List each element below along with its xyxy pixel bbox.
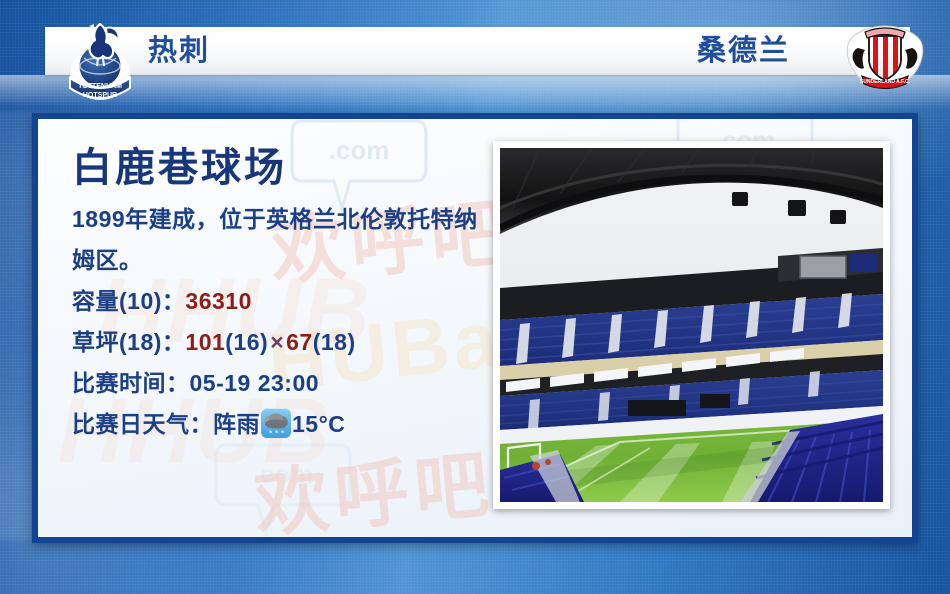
match-time-label: 比赛时间： — [72, 370, 190, 396]
pitch-row: 草坪(18)：101(16)×67(18) — [72, 322, 492, 363]
pitch-width-note: (18) — [313, 329, 356, 355]
capacity-value: 36310 — [185, 288, 251, 314]
capacity-label: 容量(10)： — [72, 288, 185, 314]
stadium-info-block: 白鹿巷球场 1899年建成，位于英格兰北伦敦托特纳姆区。 容量(10)：3631… — [72, 141, 492, 445]
match-time-value: 05-19 23:00 — [190, 370, 320, 396]
away-team-name: 桑德兰 — [697, 30, 790, 72]
pitch-label: 草坪(18)： — [72, 329, 185, 355]
sunderland-afc-crest-icon: SUNDERLAND A.F.C. — [842, 24, 928, 90]
match-time-row: 比赛时间：05-19 23:00 — [72, 363, 492, 404]
svg-text:TOTTENHAM: TOTTENHAM — [78, 83, 122, 90]
weather-temperature: 15°C — [292, 411, 345, 437]
stadium-description: 1899年建成，位于英格兰北伦敦托特纳姆区。 — [72, 199, 492, 281]
pitch-length: 101 — [185, 329, 225, 355]
weather-row: 比赛日天气：阵雨 15°C — [72, 404, 492, 445]
weather-label: 比赛日天气： — [72, 411, 213, 437]
svg-text:SUNDERLAND A.F.C.: SUNDERLAND A.F.C. — [860, 79, 911, 85]
svg-text:.com: .com — [253, 459, 314, 489]
stadium-title: 白鹿巷球场 — [72, 141, 492, 195]
rain-shower-icon — [261, 408, 291, 438]
pitch-length-note: (16) — [225, 329, 268, 355]
stadium-photo-frame — [493, 141, 890, 509]
stadium-info-card: .com .com .com 欢呼吧 HHUB HUBa 欢呼吧 HHUB 白鹿… — [32, 113, 918, 543]
pitch-separator: × — [268, 329, 286, 355]
svg-text:HOTSPUR: HOTSPUR — [83, 92, 117, 99]
home-team-name: 热刺 — [148, 30, 210, 72]
tottenham-hotspur-crest-icon: TOTTENHAM HOTSPUR — [64, 14, 136, 102]
pitch-width: 67 — [286, 329, 313, 355]
white-hart-lane-stadium-photo — [500, 148, 883, 502]
capacity-row: 容量(10)：36310 — [72, 281, 492, 322]
watermark-speech-bubble-bottom: .com — [208, 437, 358, 543]
weather-condition: 阵雨 — [213, 411, 260, 437]
